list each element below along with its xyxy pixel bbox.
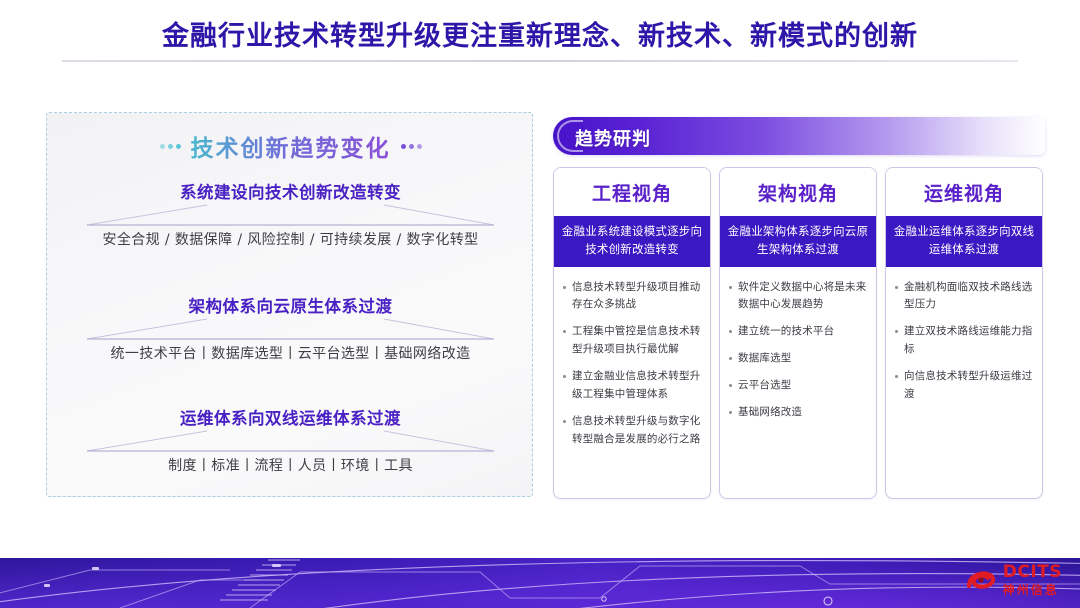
card-architecture-title: 架构视角 <box>720 168 876 216</box>
card-operations-title: 运维视角 <box>886 168 1042 216</box>
dcits-swoosh-icon <box>964 563 998 597</box>
bullet-dot-icon <box>563 375 566 378</box>
funnel-shape-1 <box>47 203 534 229</box>
card-operations-band: 金融业运维体系逐步向双线运维体系过渡 <box>886 216 1042 267</box>
card-operations-body: 金融机构面临双技术路线选型压力 建立双技术路线运维能力指标 向信息技术转型升级运… <box>886 267 1042 498</box>
list-item-text: 向信息技术转型升级运维过渡 <box>904 368 1033 404</box>
list-item: 工程集中管控是信息技术转型升级项目执行最优解 <box>563 323 701 359</box>
list-item: 建立金融业信息技术转型升级工程集中管理体系 <box>563 368 701 404</box>
trend-group-1-title: 系统建设向技术创新改造转变 <box>47 179 534 203</box>
trend-group-3-title: 运维体系向双线运维体系过渡 <box>47 405 534 429</box>
trend-change-panel: 技术创新趋势变化 系统建设向技术创新改造转变 安全合规 / 数据保障 / 风险控… <box>46 112 533 497</box>
company-logo: DCITS 神州信息 <box>964 563 1062 597</box>
list-item-text: 信息技术转型升级与数字化转型融合是发展的必行之路 <box>572 413 701 449</box>
card-engineering[interactable]: 工程视角 金融业系统建设模式逐步向技术创新改造转变 信息技术转型升级项目推动存在… <box>553 167 711 499</box>
card-architecture[interactable]: 架构视角 金融业架构体系逐步向云原生架构体系过渡 软件定义数据中心将是未来数据中… <box>719 167 877 499</box>
list-item-text: 信息技术转型升级项目推动存在众多挑战 <box>572 279 701 315</box>
list-item: 建立统一的技术平台 <box>729 323 867 341</box>
trend-group-3-items: 制度丨标准丨流程丨人员丨环境丨工具 <box>47 455 534 475</box>
list-item: 金融机构面临双技术路线选型压力 <box>895 279 1033 315</box>
bullet-dot-icon <box>563 420 566 423</box>
list-item: 软件定义数据中心将是未来数据中心发展趋势 <box>729 279 867 315</box>
bullet-dot-icon <box>729 357 732 360</box>
list-item-text: 数据库选型 <box>738 350 792 368</box>
bullet-dot-icon <box>895 286 898 289</box>
trend-group-1-items: 安全合规 / 数据保障 / 风险控制 / 可持续发展 / 数字化转型 <box>47 229 534 249</box>
page-title: 金融行业技术转型升级更注重新理念、新技术、新模式的创新 <box>0 14 1080 53</box>
footer-banner: DCITS 神州信息 <box>0 558 1080 608</box>
trend-group-2-title: 架构体系向云原生体系过渡 <box>47 293 534 317</box>
list-item: 向信息技术转型升级运维过渡 <box>895 368 1033 404</box>
perspective-cards: 工程视角 金融业系统建设模式逐步向技术创新改造转变 信息技术转型升级项目推动存在… <box>553 167 1045 499</box>
list-item: 数据库选型 <box>729 350 867 368</box>
card-engineering-band: 金融业系统建设模式逐步向技术创新改造转变 <box>554 216 710 267</box>
logo-text: DCITS 神州信息 <box>1003 564 1062 596</box>
trend-group-2: 架构体系向云原生体系过渡 统一技术平台丨数据库选型丨云平台选型丨基础网络改造 <box>47 293 534 363</box>
card-engineering-body: 信息技术转型升级项目推动存在众多挑战 工程集中管控是信息技术转型升级项目执行最优… <box>554 267 710 498</box>
circuit-pattern-icon <box>0 558 1080 608</box>
title-divider <box>62 60 1018 62</box>
bullet-dot-icon <box>895 375 898 378</box>
logo-chinese: 神州信息 <box>1003 584 1062 596</box>
dots-right-icon <box>401 144 422 149</box>
trend-change-heading-row: 技术创新趋势变化 <box>47 129 534 163</box>
bullet-dot-icon <box>895 330 898 333</box>
bullet-dot-icon <box>729 384 732 387</box>
card-operations[interactable]: 运维视角 金融业运维体系逐步向双线运维体系过渡 金融机构面临双技术路线选型压力 … <box>885 167 1043 499</box>
list-item: 建立双技术路线运维能力指标 <box>895 323 1033 359</box>
bullet-dot-icon <box>729 330 732 333</box>
bullet-dot-icon <box>563 330 566 333</box>
bullet-dot-icon <box>729 411 732 414</box>
list-item-text: 软件定义数据中心将是未来数据中心发展趋势 <box>738 279 867 315</box>
list-item-text: 建立金融业信息技术转型升级工程集中管理体系 <box>572 368 701 404</box>
trend-change-heading: 技术创新趋势变化 <box>191 129 391 163</box>
slide-root: 金融行业技术转型升级更注重新理念、新技术、新模式的创新 技术创新趋势变化 系统建… <box>0 0 1080 608</box>
trend-group-3: 运维体系向双线运维体系过渡 制度丨标准丨流程丨人员丨环境丨工具 <box>47 405 534 475</box>
bullet-dot-icon <box>729 286 732 289</box>
list-item-text: 工程集中管控是信息技术转型升级项目执行最优解 <box>572 323 701 359</box>
trend-judgement-label: 趋势研判 <box>575 125 651 151</box>
list-item-text: 金融机构面临双技术路线选型压力 <box>904 279 1033 315</box>
dots-left-icon <box>160 144 181 149</box>
list-item: 信息技术转型升级项目推动存在众多挑战 <box>563 279 701 315</box>
funnel-shape-3 <box>47 429 534 455</box>
list-item: 信息技术转型升级与数字化转型融合是发展的必行之路 <box>563 413 701 449</box>
page-title-wrap: 金融行业技术转型升级更注重新理念、新技术、新模式的创新 <box>0 14 1080 53</box>
trend-group-2-items: 统一技术平台丨数据库选型丨云平台选型丨基础网络改造 <box>47 343 534 363</box>
card-architecture-body: 软件定义数据中心将是未来数据中心发展趋势 建立统一的技术平台 数据库选型 云平台… <box>720 267 876 498</box>
logo-english: DCITS <box>1003 564 1062 581</box>
trend-judgement-banner: 趋势研判 <box>553 117 1045 155</box>
funnel-shape-2 <box>47 317 534 343</box>
list-item-text: 基础网络改造 <box>738 404 802 422</box>
list-item-text: 建立双技术路线运维能力指标 <box>904 323 1033 359</box>
trend-group-1: 系统建设向技术创新改造转变 安全合规 / 数据保障 / 风险控制 / 可持续发展… <box>47 179 534 249</box>
list-item-text: 建立统一的技术平台 <box>738 323 834 341</box>
list-item: 基础网络改造 <box>729 404 867 422</box>
list-item: 云平台选型 <box>729 377 867 395</box>
bullet-dot-icon <box>563 286 566 289</box>
card-architecture-band: 金融业架构体系逐步向云原生架构体系过渡 <box>720 216 876 267</box>
card-engineering-title: 工程视角 <box>554 168 710 216</box>
list-item-text: 云平台选型 <box>738 377 792 395</box>
